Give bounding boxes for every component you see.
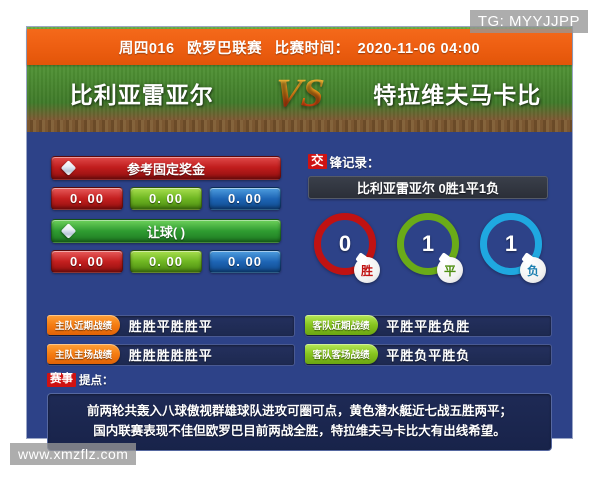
match-tips-line-1: 前两轮共轰入八球傲视群雄球队进攻可圈可点，黄色潜水艇近七战五胜两平； — [60, 401, 539, 421]
form-rows: 胜胜平胜胜平 主队近期战绩 平胜平胜负胜 客队近期战绩 胜胜胜胜胜平 主队主场战… — [47, 315, 552, 373]
card-body: 参考固定奖金 0. 00 0. 00 0. 00 让球( ) 0. 00 0. … — [27, 132, 572, 438]
vs-wrap: VS — [257, 73, 343, 113]
fixed-prize-home[interactable]: 0. 00 — [51, 187, 123, 210]
handicap-away[interactable]: 0. 00 — [209, 250, 281, 273]
head-to-head-panel: 交 锋记录： 比利亚雷亚尔 0胜1平1负 0 胜 1 — [308, 153, 548, 275]
telegram-watermark: TG: MYYJJPP — [470, 10, 588, 33]
away-recent-tag: 客队近期战绩 — [305, 315, 378, 335]
handicap-label: 让球( ) — [147, 222, 185, 241]
head-to-head-title: 交 锋记录： — [308, 153, 548, 170]
site-watermark: www.xmzflz.com — [10, 443, 136, 465]
fixed-prize-label: 参考固定奖金 — [127, 159, 205, 178]
teams-row: 比利亚雷亚尔 VS 特拉维夫马卡比 — [27, 67, 572, 119]
away-away-form: 平胜负平胜负 客队客场战绩 — [305, 344, 553, 364]
match-number: 周四016 — [119, 41, 175, 57]
home-home-form: 胜胜胜胜胜平 主队主场战绩 — [47, 344, 295, 364]
match-tips-title-rest: 提点： — [79, 372, 114, 388]
ring-draw: 1 平 — [397, 213, 459, 275]
kickoff-label: 比赛时间： — [275, 41, 350, 57]
odds-panel: 参考固定奖金 0. 00 0. 00 0. 00 让球( ) 0. 00 0. … — [51, 156, 281, 273]
match-tips-title: 赛事 提点： — [47, 372, 552, 388]
match-header-bar: 周四016 欧罗巴联赛 比赛时间：2020-11-06 04:00 — [27, 29, 572, 65]
vs-icon: VS — [273, 73, 326, 113]
home-recent-form: 胜胜平胜胜平 主队近期战绩 — [47, 315, 295, 335]
handicap-draw[interactable]: 0. 00 — [130, 250, 202, 273]
handicap-bar: 让球( ) — [51, 219, 281, 243]
match-tips: 赛事 提点： 前两轮共轰入八球傲视群雄球队进攻可圈可点，黄色潜水艇近七战五胜两平… — [47, 372, 552, 451]
match-tips-box: 前两轮共轰入八球傲视群雄球队进攻可圈可点，黄色潜水艇近七战五胜两平； 国内联赛表… — [47, 393, 552, 451]
handicap-home[interactable]: 0. 00 — [51, 250, 123, 273]
fixed-prize-values-row: 0. 00 0. 00 0. 00 — [51, 187, 281, 210]
league-name: 欧罗巴联赛 — [187, 41, 262, 57]
ring-win: 0 胜 — [314, 213, 376, 275]
home-team-name: 比利亚雷亚尔 — [27, 76, 257, 110]
ring-loss: 1 负 — [480, 213, 542, 275]
ring-draw-badge: 平 — [437, 257, 463, 283]
diamond-gem-icon — [61, 160, 77, 176]
match-header-text: 周四016 欧罗巴联赛 比赛时间：2020-11-06 04:00 — [115, 37, 484, 58]
head-to-head-title-rest: 锋记录： — [330, 152, 380, 171]
ring-loss-badge: 负 — [520, 257, 546, 283]
match-tips-title-mark: 赛事 — [47, 373, 76, 388]
ring-loss-value: 1 — [505, 233, 517, 255]
ring-win-badge: 胜 — [354, 257, 380, 283]
kickoff-time: 2020-11-06 04:00 — [358, 41, 481, 57]
away-team-name: 特拉维夫马卡比 — [343, 76, 573, 110]
ring-win-value: 0 — [339, 233, 351, 255]
match-preview-card: 周四016 欧罗巴联赛 比赛时间：2020-11-06 04:00 比利亚雷亚尔… — [27, 27, 572, 438]
fixed-prize-bar: 参考固定奖金 — [51, 156, 281, 180]
home-home-tag: 主队主场战绩 — [47, 344, 120, 364]
fixed-prize-draw[interactable]: 0. 00 — [130, 187, 202, 210]
head-to-head-summary: 比利亚雷亚尔 0胜1平1负 — [308, 176, 548, 199]
handicap-values-row: 0. 00 0. 00 0. 00 — [51, 250, 281, 273]
diamond-gem-icon — [61, 223, 77, 239]
home-recent-tag: 主队近期战绩 — [47, 315, 120, 335]
fixed-prize-away[interactable]: 0. 00 — [209, 187, 281, 210]
head-to-head-title-mark: 交 — [308, 154, 327, 170]
match-tips-line-2: 国内联赛表现不佳但欧罗巴目前两战全胜，特拉维夫马卡比大有出线希望。 — [60, 421, 539, 441]
away-away-tag: 客队客场战绩 — [305, 344, 378, 364]
ring-draw-value: 1 — [422, 233, 434, 255]
form-row: 胜胜胜胜胜平 主队主场战绩 平胜负平胜负 客队客场战绩 — [47, 344, 552, 364]
head-to-head-rings: 0 胜 1 平 1 负 — [308, 213, 548, 275]
screenshot-root: 周四016 欧罗巴联赛 比赛时间：2020-11-06 04:00 比利亚雷亚尔… — [0, 0, 600, 480]
away-recent-form: 平胜平胜负胜 客队近期战绩 — [305, 315, 553, 335]
form-row: 胜胜平胜胜平 主队近期战绩 平胜平胜负胜 客队近期战绩 — [47, 315, 552, 335]
